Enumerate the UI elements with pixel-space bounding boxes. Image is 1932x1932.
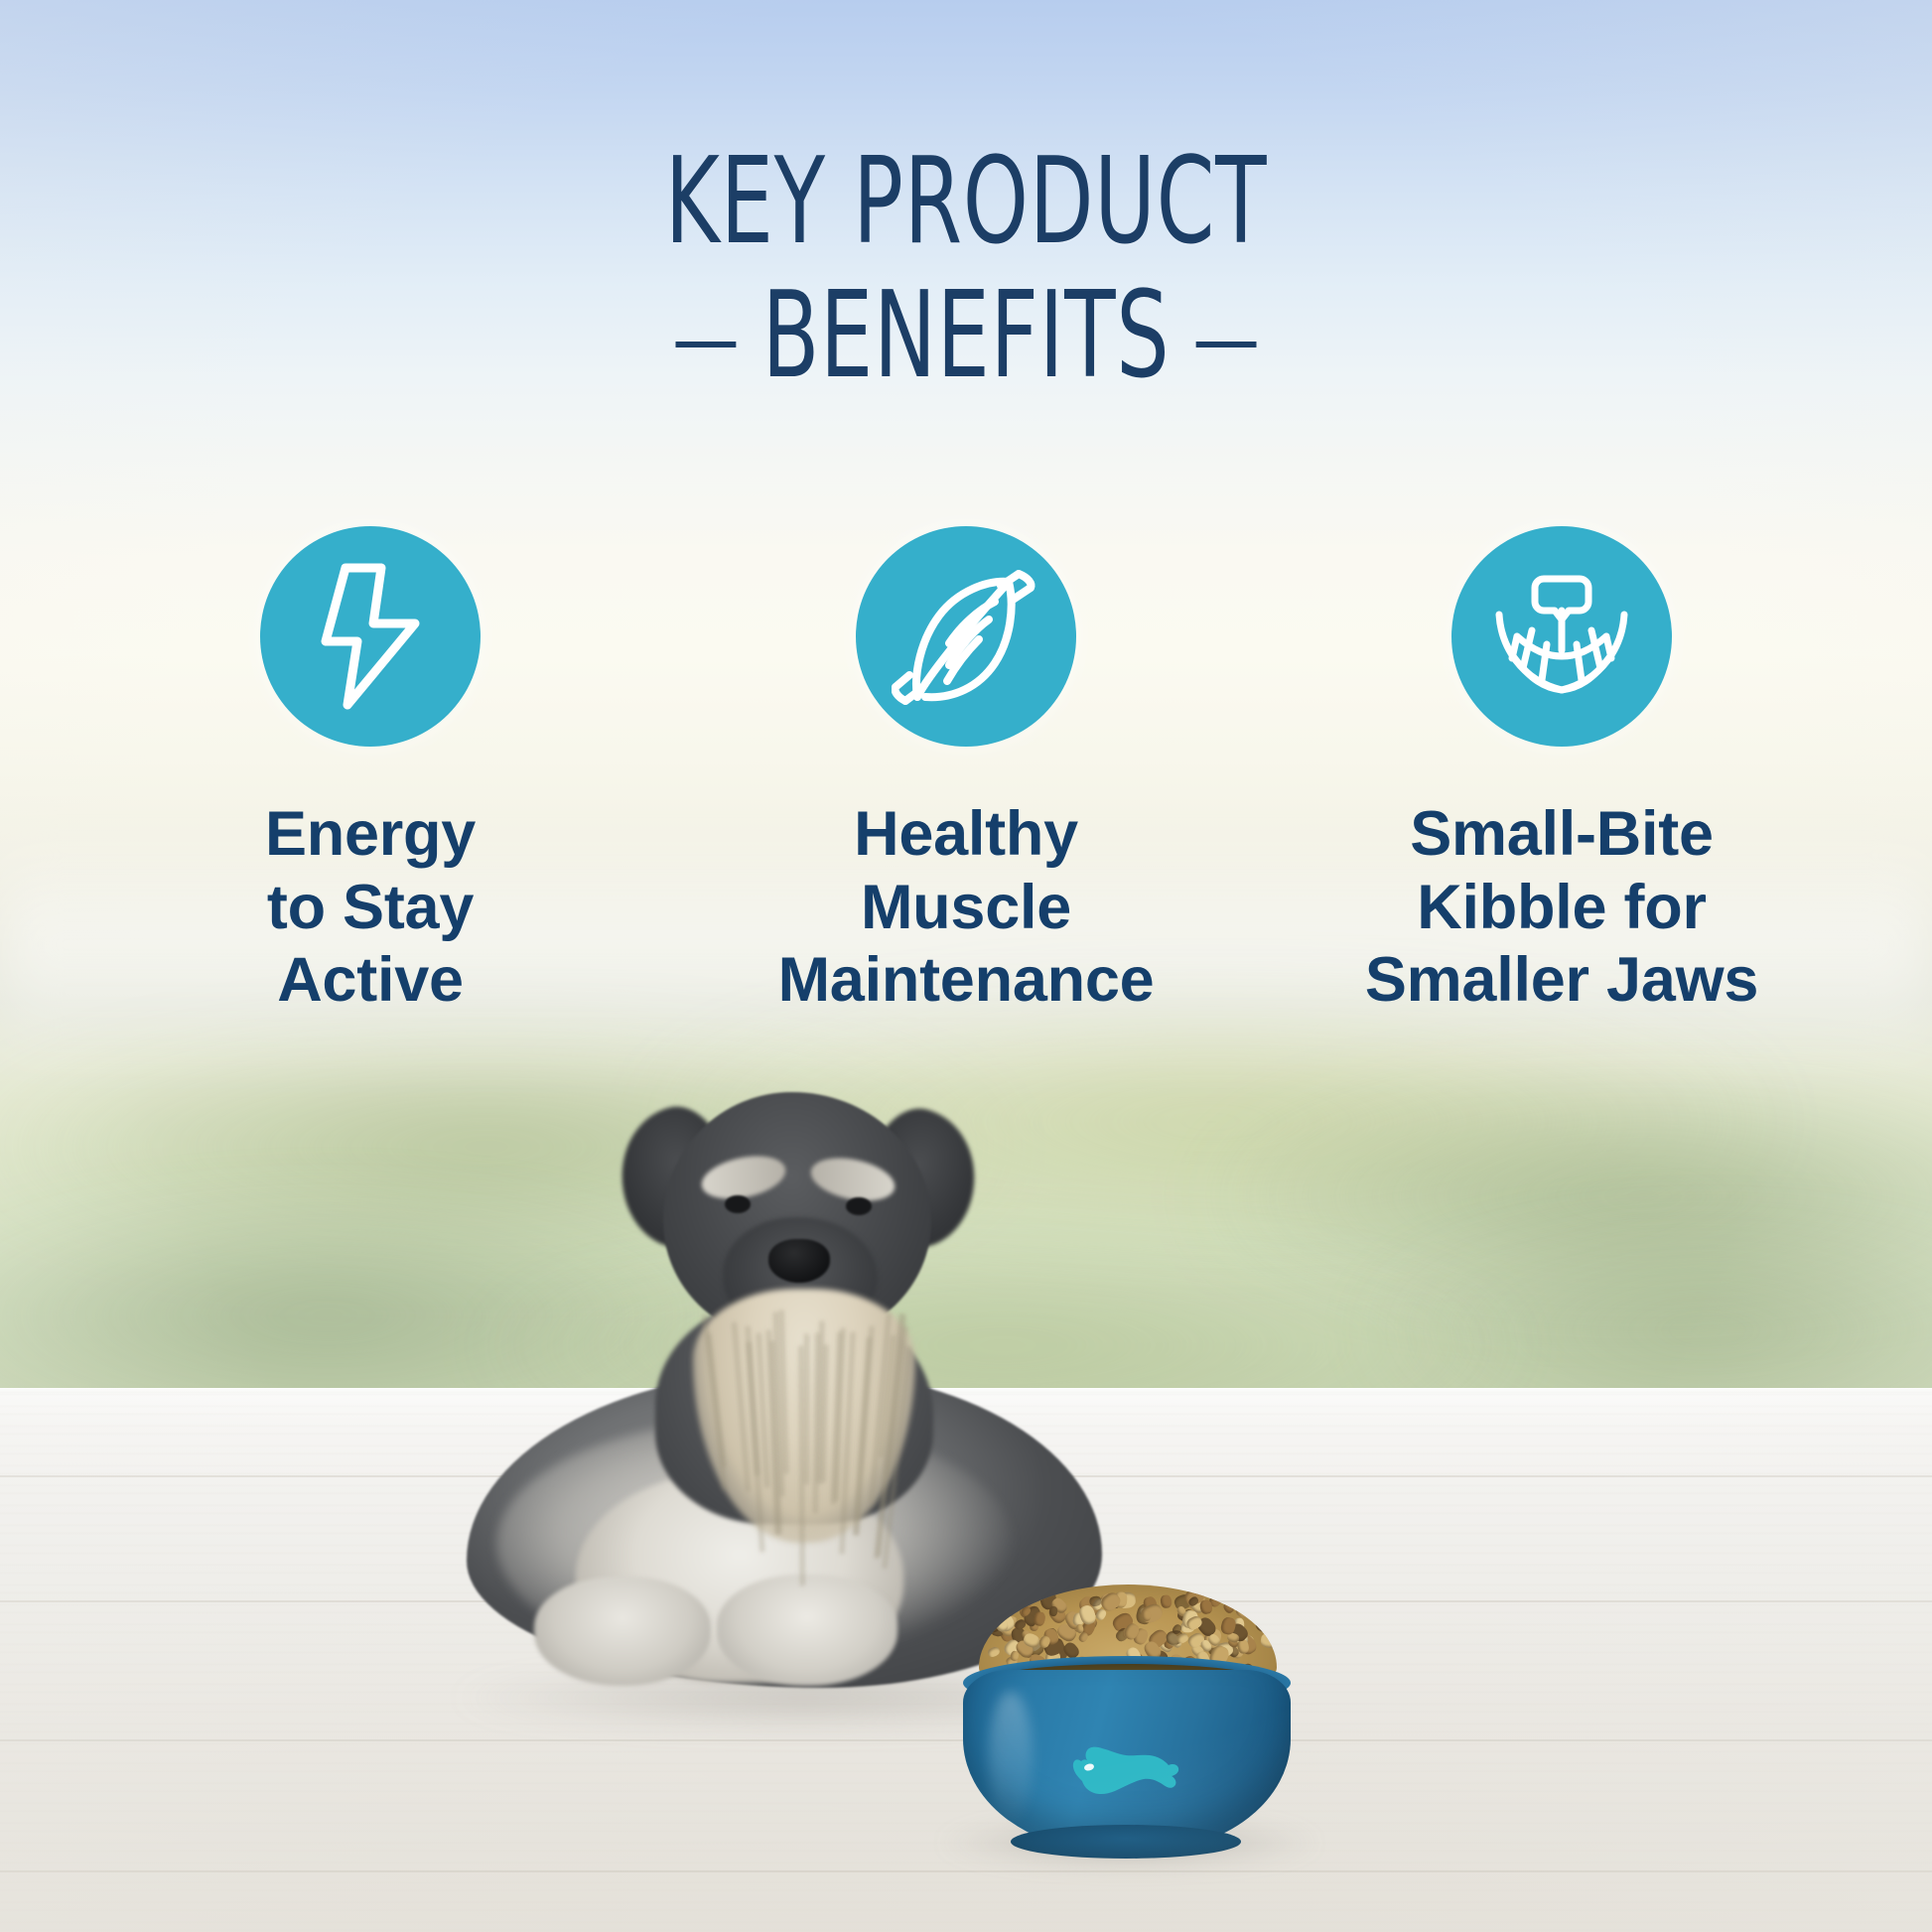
bowl-highlight [989, 1692, 1033, 1823]
title-dash-left-icon [675, 342, 736, 347]
title-line-2: BENEFITS [762, 267, 1171, 405]
kibble-piece [987, 1645, 1002, 1658]
page-title: KEY PRODUCT BENEFITS [0, 139, 1932, 399]
dog-eye-left [725, 1195, 751, 1213]
kibble-piece [1033, 1610, 1046, 1626]
benefit-label-line: Smaller Jaws [1365, 945, 1758, 1015]
kibble-piece [1222, 1600, 1236, 1614]
kibble-piece [1142, 1609, 1152, 1621]
benefit-label-kibble: Small-Bite Kibble for Smaller Jaws [1365, 798, 1758, 1018]
benefits-panel: KEY PRODUCT BENEFITS Energy to Stay Acti… [0, 0, 1932, 1932]
benefit-label-line: Kibble for [1417, 873, 1706, 942]
bowl-base [1011, 1825, 1241, 1859]
dog-nose [768, 1239, 830, 1283]
benefit-icon-circle-energy [260, 526, 481, 747]
benefit-label-line: Maintenance [778, 945, 1155, 1015]
benefit-label-line: Energy [265, 799, 476, 869]
dog-paw-right [717, 1575, 897, 1686]
title-dash-right-icon [1196, 342, 1257, 347]
kibble-piece [1161, 1594, 1173, 1609]
benefit-item-kibble[interactable]: Small-Bite Kibble for Smaller Jaws [1284, 526, 1840, 1018]
benefit-icon-circle-kibble [1451, 526, 1672, 747]
lightning-bolt-icon [312, 562, 429, 711]
dog-food-bowl [953, 1585, 1301, 1892]
benefit-label-line: to Stay [267, 873, 474, 942]
kibble-piece [1249, 1602, 1260, 1613]
benefit-label-line: Small-Bite [1410, 799, 1714, 869]
title-line-2-wrap: BENEFITS [212, 273, 1720, 399]
benefit-item-energy[interactable]: Energy to Stay Active [92, 526, 648, 1018]
benefit-icon-circle-muscle [856, 526, 1076, 747]
muscle-fiber-icon [892, 562, 1040, 711]
dog-eye-right [846, 1197, 872, 1215]
benefits-row: Energy to Stay Active [0, 526, 1932, 1018]
benefit-label-line: Healthy [854, 799, 1078, 869]
benefit-label-energy: Energy to Stay Active [265, 798, 476, 1018]
kibble-piece [1260, 1632, 1277, 1649]
benefit-item-muscle[interactable]: Healthy Muscle Maintenance [688, 526, 1244, 1018]
dog-paw-left [534, 1577, 711, 1686]
title-line-1: KEY PRODUCT [212, 139, 1720, 265]
jaw-teeth-kibble-icon [1487, 565, 1636, 709]
benefit-label-line: Muscle [861, 873, 1071, 942]
dog-beard-strand [804, 1333, 809, 1485]
buffalo-bison-logo [1060, 1731, 1191, 1807]
benefit-label-line: Active [277, 945, 464, 1015]
benefit-label-muscle: Healthy Muscle Maintenance [778, 798, 1155, 1018]
